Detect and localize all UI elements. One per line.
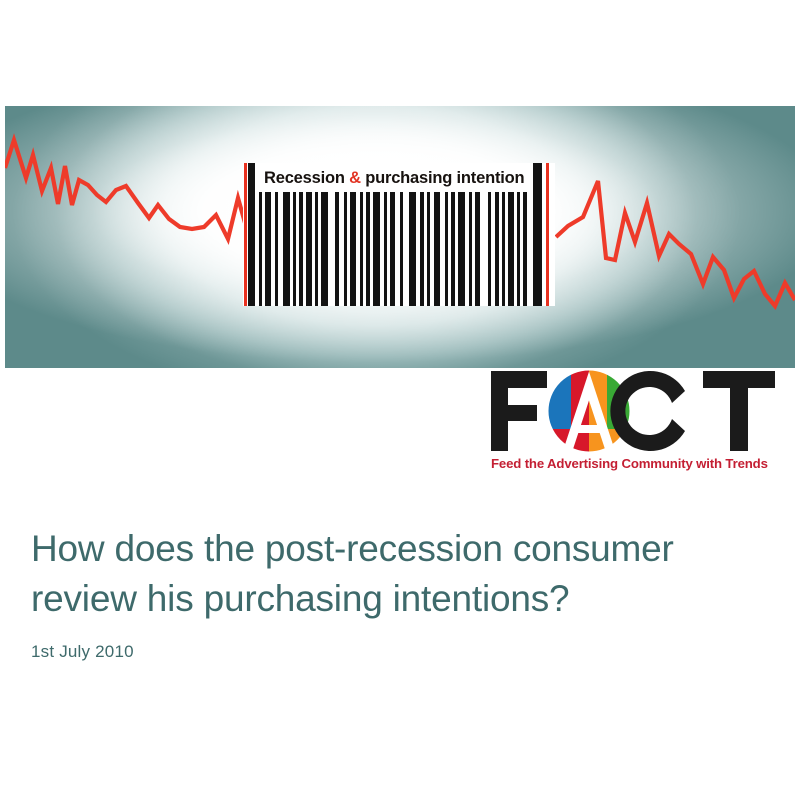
barcode-label-part-2: purchasing intention [361,169,525,187]
fact-logo-mark [489,369,795,453]
fact-letter-f [491,371,547,451]
page-title: How does the post-recession consumer rev… [31,524,761,624]
fact-tagline: Feed the Advertising Community with Tren… [491,456,768,471]
fact-letter-t [703,371,775,451]
page-title-line-1: How does the post-recession consumer [31,528,674,569]
title-block: How does the post-recession consumer rev… [31,524,761,662]
barcode-label-ampersand: & [349,169,361,187]
barcode-label: Recession & purchasing intention [264,166,536,190]
page-title-line-2: review his purchasing intentions? [31,578,569,619]
barcode-guard-left [244,163,247,306]
barcode-guard-right [546,163,549,306]
barcode-label-part-1: Recession [264,169,349,187]
presentation-date: 1st July 2010 [31,642,761,662]
